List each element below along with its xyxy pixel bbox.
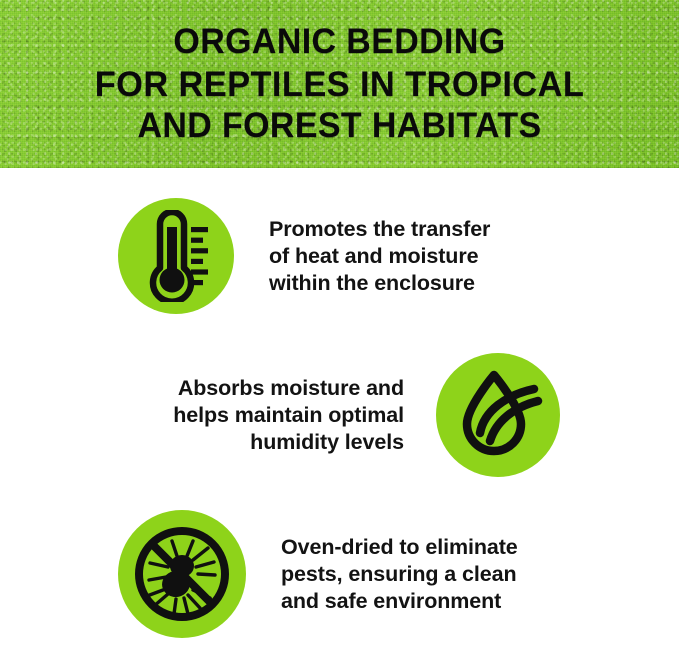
- water-droplet-icon: [450, 367, 546, 463]
- water-droplet-icon-badge: [436, 353, 560, 477]
- feature-item-pest-free: Oven-dried to eliminate pests, ensuring …: [118, 510, 588, 638]
- feature-text-moisture-absorption: Absorbs moisture and helps maintain opti…: [110, 375, 404, 456]
- feature-text-pest-free: Oven-dried to eliminate pests, ensuring …: [281, 534, 518, 615]
- feature-item-moisture-absorption: Absorbs moisture and helps maintain opti…: [110, 353, 560, 477]
- feature-line: humidity levels: [110, 429, 404, 456]
- thermometer-icon-badge: [118, 198, 234, 314]
- feature-line: pests, ensuring a clean: [281, 561, 518, 588]
- feature-line: helps maintain optimal: [110, 402, 404, 429]
- thermometer-icon: [134, 210, 218, 302]
- feature-line: Oven-dried to eliminate: [281, 534, 518, 561]
- feature-item-heat-transfer: Promotes the transfer of heat and moistu…: [118, 198, 578, 314]
- feature-line: and safe environment: [281, 588, 518, 615]
- feature-line: Promotes the transfer: [269, 216, 490, 243]
- feature-line: within the enclosure: [269, 270, 490, 297]
- no-pests-icon-badge: [118, 510, 246, 638]
- feature-list: Promotes the transfer of heat and moistu…: [0, 168, 679, 648]
- page-title-line-1: ORGANIC BEDDING: [10, 21, 669, 63]
- no-pests-icon: [130, 522, 234, 626]
- page-title-line-2: FOR REPTILES IN TROPICAL: [10, 63, 669, 105]
- header-banner: ORGANIC BEDDING FOR REPTILES IN TROPICAL…: [0, 0, 679, 168]
- page-title-line-3: AND FOREST HABITATS: [10, 105, 669, 147]
- page-title: ORGANIC BEDDING FOR REPTILES IN TROPICAL…: [10, 0, 669, 147]
- feature-text-heat-transfer: Promotes the transfer of heat and moistu…: [269, 216, 490, 297]
- feature-line: of heat and moisture: [269, 243, 490, 270]
- feature-line: Absorbs moisture and: [110, 375, 404, 402]
